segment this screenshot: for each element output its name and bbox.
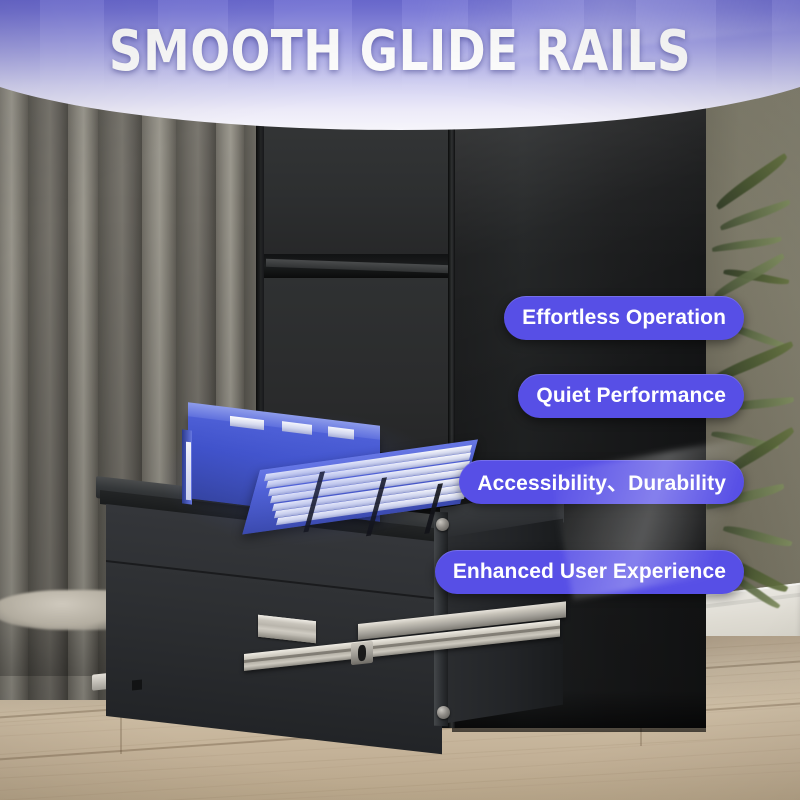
header-banner: SMOOTH GLIDE RAILS [0, 0, 800, 130]
feature-badge-list: Effortless Operation Quiet Performance A… [380, 288, 780, 608]
feature-badge-label: Enhanced User Experience [453, 560, 726, 584]
standing-folder-spine-label [186, 442, 191, 501]
feature-badge-label: Quiet Performance [536, 384, 726, 408]
feature-badge-effortless-operation[interactable]: Effortless Operation [504, 296, 744, 340]
drawer-rivet-bottom [437, 706, 450, 719]
glide-rail-stud [132, 679, 142, 690]
glide-rail-end-tip [92, 673, 106, 691]
feature-badge-label: Accessibility、Durability [477, 467, 726, 497]
cabinet-upper-drawer-front [264, 120, 452, 256]
feature-badge-label: Effortless Operation [522, 306, 726, 330]
feature-badge-quiet-performance[interactable]: Quiet Performance [518, 374, 744, 418]
product-feature-image: SMOOTH GLIDE RAILS Effortless Operation … [0, 0, 800, 800]
page-title: SMOOTH GLIDE RAILS [0, 22, 800, 82]
feature-badge-enhanced-user-experience[interactable]: Enhanced User Experience [435, 550, 744, 594]
glide-rail-clip [351, 641, 373, 665]
feature-badge-accessibility-durability[interactable]: Accessibility、Durability [459, 460, 744, 504]
